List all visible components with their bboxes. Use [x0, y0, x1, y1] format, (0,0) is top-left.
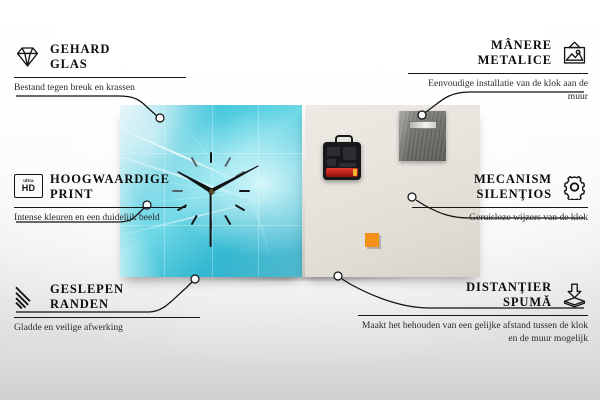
- clock-mechanism-part: [323, 142, 361, 180]
- ultra-hd-icon: ultra HD: [14, 174, 41, 200]
- callout-rule: [14, 317, 200, 318]
- callout-title: GEHARDGLAS: [50, 42, 110, 73]
- metal-hanger-part: [399, 111, 446, 161]
- callout-subtitle: Maakt het behouden van een gelijke afsta…: [358, 320, 588, 346]
- callout-rule: [412, 207, 588, 208]
- press-down-foam-icon: [561, 282, 588, 308]
- callout-hoogwaardige-print: ultra HD HOOGWAARDIGEPRINT Intense kleur…: [14, 172, 186, 225]
- callout-title: DISTANŢIERSPUMĂ: [466, 280, 552, 311]
- callout-rule: [358, 315, 588, 316]
- callout-mecanism-silentios: MECANISMSILENŢIOS Geruisloze wijzers van…: [412, 172, 588, 225]
- gear-icon: [561, 174, 588, 200]
- callout-title: MÂNEREMETALICE: [478, 38, 552, 69]
- callout-gehard-glas: GEHARDGLAS Bestand tegen breuk en krasse…: [14, 42, 186, 95]
- callout-title: MECANISMSILENŢIOS: [474, 172, 552, 203]
- infographic-canvas: GEHARDGLAS Bestand tegen breuk en krasse…: [0, 0, 600, 400]
- callout-subtitle: Eenvoudige installatie van de klok aan d…: [408, 78, 588, 104]
- callout-subtitle: Geruisloze wijzers van de klok: [412, 212, 588, 225]
- callout-subtitle: Intense kleuren en een duidelijk beeld: [14, 212, 186, 225]
- callout-subtitle: Bestand tegen breuk en krassen: [14, 82, 186, 95]
- callout-rule: [14, 77, 186, 78]
- callout-geslepen-randen: GESLEPENRANDEN Gladde en veilige afwerki…: [14, 282, 200, 335]
- clock-second-hand: [210, 191, 212, 247]
- beveled-edges-icon: [14, 284, 41, 310]
- ultra-hd-icon-main-text: HD: [22, 184, 36, 193]
- callout-title: HOOGWAARDIGEPRINT: [50, 172, 170, 203]
- callout-subtitle: Gladde en veilige afwerking: [14, 322, 200, 335]
- battery-part: [326, 168, 358, 177]
- callout-rule: [408, 73, 588, 74]
- callout-manere-metalice: MÂNEREMETALICE Eenvoudige installatie va…: [408, 38, 588, 104]
- callout-title: GESLEPENRANDEN: [50, 282, 124, 313]
- diamond-icon: [14, 44, 41, 70]
- foam-spacer-part: [365, 233, 379, 247]
- clock-center-pin: [209, 189, 214, 194]
- callout-rule: [14, 207, 186, 208]
- callout-distantier-spuma: DISTANŢIERSPUMĂ Maakt het behouden van e…: [358, 280, 588, 346]
- hanging-frame-icon: [561, 40, 588, 66]
